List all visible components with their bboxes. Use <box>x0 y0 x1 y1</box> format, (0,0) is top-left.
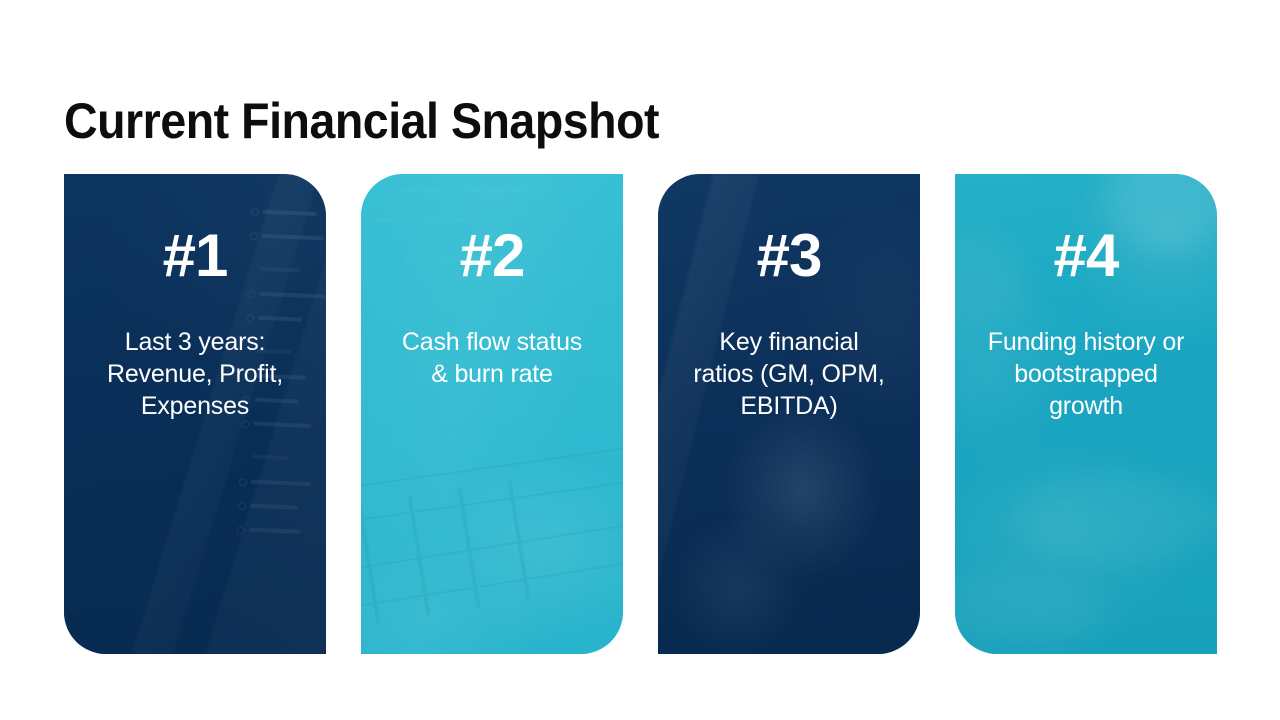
card-3-description: Key financial ratios (GM, OPM, EBITDA) <box>672 326 906 422</box>
card-1-description: Last 3 years: Revenue, Profit, Expenses <box>78 326 312 422</box>
card-3-content: #3 Key financial ratios (GM, OPM, EBITDA… <box>658 174 920 654</box>
card-3-number: #3 <box>672 226 906 286</box>
slide-canvas: Current Financial Snapshot <box>0 0 1280 720</box>
feature-card-2[interactable]: #2 Cash flow status & burn rate <box>361 174 623 654</box>
page-title: Current Financial Snapshot <box>64 92 659 150</box>
card-4-number: #4 <box>969 226 1203 286</box>
feature-card-row: #1 Last 3 years: Revenue, Profit, Expens… <box>64 174 1220 654</box>
card-4-content: #4 Funding history or bootstrapped growt… <box>955 174 1217 654</box>
feature-card-1[interactable]: #1 Last 3 years: Revenue, Profit, Expens… <box>64 174 326 654</box>
feature-card-3[interactable]: #3 Key financial ratios (GM, OPM, EBITDA… <box>658 174 920 654</box>
feature-card-4[interactable]: #4 Funding history or bootstrapped growt… <box>955 174 1217 654</box>
card-2-number: #2 <box>375 226 609 286</box>
card-4-description: Funding history or bootstrapped growth <box>969 326 1203 422</box>
card-2-description: Cash flow status & burn rate <box>375 326 609 390</box>
card-1-number: #1 <box>78 226 312 286</box>
card-1-content: #1 Last 3 years: Revenue, Profit, Expens… <box>64 174 326 654</box>
card-2-content: #2 Cash flow status & burn rate <box>361 174 623 654</box>
